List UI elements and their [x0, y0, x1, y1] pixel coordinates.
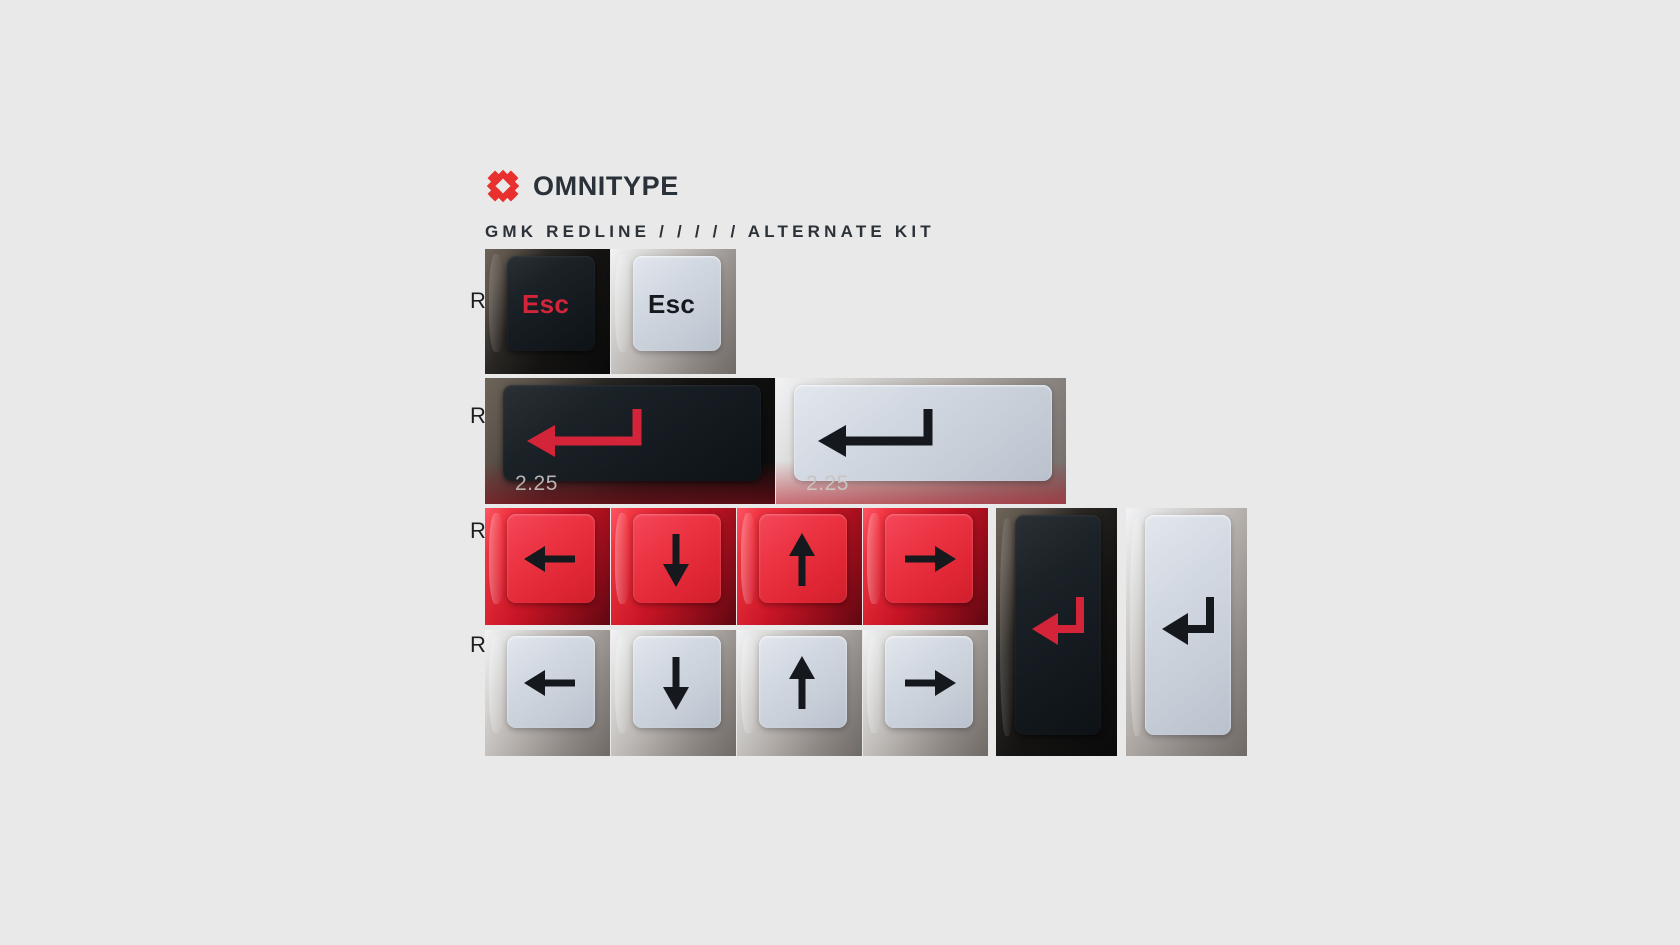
cap-top-surface	[507, 636, 595, 728]
keycap-kit-render: OMNITYPE GMK REDLINE / / / / / ALTERNATE…	[0, 0, 1680, 945]
cap-top-surface	[1015, 515, 1101, 735]
cap-top-surface	[503, 385, 761, 481]
cap-top-surface	[759, 636, 847, 728]
enter-arrow-icon	[519, 405, 649, 463]
keycap-r4-arrow-down-red[interactable]	[611, 508, 736, 625]
arrow-right-icon	[901, 668, 957, 698]
cap-top-surface	[1145, 515, 1231, 735]
keycap-r4-arrow-right-light[interactable]	[863, 630, 988, 756]
arrow-left-icon	[523, 668, 579, 698]
keycap-r1-esc-light[interactable]: Esc	[611, 249, 736, 374]
cap-top-surface	[633, 514, 721, 603]
cap-top-surface	[507, 514, 595, 603]
arrow-up-icon	[787, 655, 817, 711]
legend-esc: Esc	[522, 291, 569, 317]
cap-top-surface	[759, 514, 847, 603]
cap-top-surface	[885, 636, 973, 728]
arrow-up-icon	[787, 532, 817, 588]
cap-top-surface	[794, 385, 1052, 481]
cap-top-surface	[633, 636, 721, 728]
brand-lockup: OMNITYPE	[485, 168, 679, 204]
keycap-iso-enter-light[interactable]	[1126, 508, 1247, 756]
keycap-r3-enter-light-2-25u[interactable]: 2.25	[776, 378, 1066, 504]
cap-top-surface: Esc	[507, 256, 595, 351]
keycap-r4-arrow-up-red[interactable]	[737, 508, 862, 625]
size-tag-2-25: 2.25	[515, 472, 558, 496]
arrow-right-icon	[901, 544, 957, 574]
legend-esc: Esc	[648, 291, 695, 317]
enter-arrow-icon	[1158, 593, 1220, 651]
keycap-r3-enter-dark-2-25u[interactable]: 2.25	[485, 378, 775, 504]
keycap-r4-arrow-down-light[interactable]	[611, 630, 736, 756]
kit-title: GMK REDLINE / / / / / ALTERNATE KIT	[485, 222, 935, 242]
keycap-r4-arrow-up-light[interactable]	[737, 630, 862, 756]
keycap-r4-arrow-left-red[interactable]	[485, 508, 610, 625]
keycap-r1-esc-dark[interactable]: Esc	[485, 249, 610, 374]
arrow-down-icon	[661, 532, 691, 588]
arrow-down-icon	[661, 655, 691, 711]
enter-arrow-icon	[1028, 593, 1090, 651]
keycap-r4-arrow-left-light[interactable]	[485, 630, 610, 756]
keycap-iso-enter-dark[interactable]	[996, 508, 1117, 756]
keycap-r4-arrow-right-red[interactable]	[863, 508, 988, 625]
cap-top-surface	[885, 514, 973, 603]
brand-name: OMNITYPE	[533, 173, 679, 200]
enter-arrow-icon	[810, 405, 940, 463]
arrow-left-icon	[523, 544, 579, 574]
cap-top-surface: Esc	[633, 256, 721, 351]
omnitype-x-logo-icon	[485, 168, 521, 204]
size-tag-2-25: 2.25	[806, 472, 849, 496]
